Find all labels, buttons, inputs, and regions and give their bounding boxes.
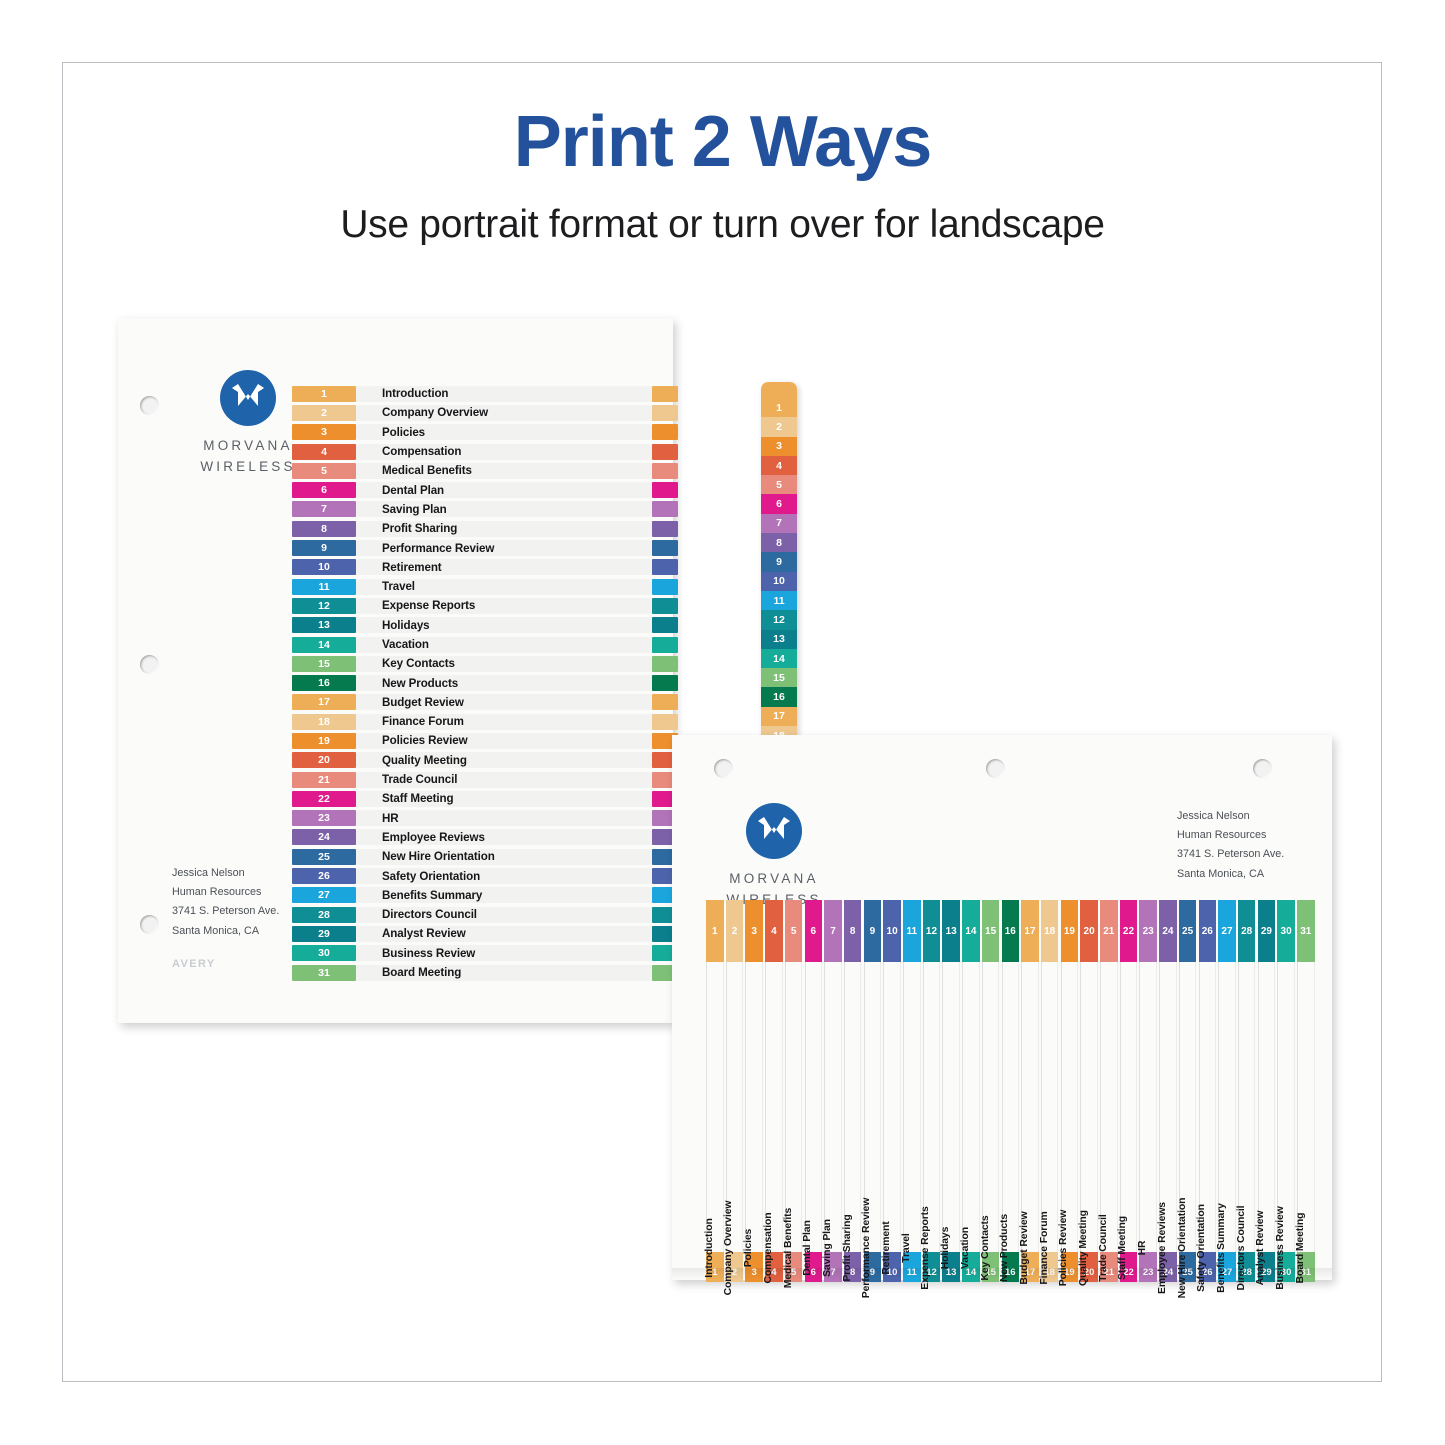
landscape-tab-column: 11Travel11 (903, 900, 921, 1282)
row-gap (356, 945, 370, 961)
tab-number-chip: 25 (292, 849, 356, 865)
landscape-tab-column: 9Performance Review9 (864, 900, 882, 1282)
landscape-tab-column: 17Budget Review17 (1021, 900, 1039, 1282)
tab-label: Vacation (370, 637, 652, 653)
tab-number-chip: 6 (292, 482, 356, 498)
tab-body: Directors Council (1238, 962, 1256, 1252)
row-gap (356, 849, 370, 865)
tab-number-chip: 27 (292, 887, 356, 903)
tab-number-header: 19 (1061, 900, 1079, 962)
landscape-tab-column: 24Employee Reviews24 (1159, 900, 1177, 1282)
table-row: 20Quality Meeting (292, 751, 678, 770)
tab-number-header: 27 (1218, 900, 1236, 962)
tab-label: New Hire Orientation (370, 849, 652, 865)
row-gap (356, 482, 370, 498)
tab-body: Saving Plan (824, 962, 842, 1252)
tab-number-header: 4 (765, 900, 783, 962)
morvana-diamond-logo-icon (746, 803, 802, 859)
tab-body: Safety Orientation (1199, 962, 1217, 1252)
landscape-tab-column: 2Company Overview2 (726, 900, 744, 1282)
table-row: 5Medical Benefits (292, 461, 678, 480)
binder-hole (140, 396, 159, 415)
tab-label: Key Contacts (370, 656, 652, 672)
binder-hole (1253, 759, 1272, 778)
tab-edge-number: 2 (761, 417, 797, 436)
table-row: 1Introduction (292, 384, 678, 403)
tab-edge-number: 14 (761, 649, 797, 668)
landscape-tab-column: 4Compensation4 (765, 900, 783, 1282)
tab-number-header: 6 (805, 900, 823, 962)
table-row: 9Performance Review (292, 538, 678, 557)
tab-edge-number: 1 (761, 382, 797, 417)
tab-body: Board Meeting (1297, 962, 1315, 1252)
sheet-shadow-shelf (672, 1268, 1332, 1280)
tab-number-chip: 16 (292, 675, 356, 691)
tab-number-header: 30 (1277, 900, 1295, 962)
table-row: 14Vacation (292, 635, 678, 654)
tab-end-chip (652, 598, 678, 614)
tab-number-header: 2 (726, 900, 744, 962)
tab-label: Quality Meeting (370, 752, 652, 768)
tab-body: Holidays (942, 962, 960, 1252)
tab-body: New Hire Orientation (1179, 962, 1197, 1252)
brand-name-line1: MORVANA (704, 869, 844, 890)
tab-number-chip: 5 (292, 463, 356, 479)
tab-body: Dental Plan (805, 962, 823, 1252)
tab-body: Business Review (1277, 962, 1295, 1252)
table-row: 28Directors Council (292, 905, 678, 924)
tab-number-chip: 31 (292, 965, 356, 981)
row-gap (356, 868, 370, 884)
tab-label: Travel (370, 579, 652, 595)
tab-number-chip: 1 (292, 386, 356, 402)
tab-body: Policies Review (1061, 962, 1079, 1252)
landscape-tab-column: 14Vacation14 (962, 900, 980, 1282)
row-gap (356, 887, 370, 903)
binder-hole (140, 655, 159, 674)
row-gap (356, 926, 370, 942)
tab-label: Profit Sharing (370, 521, 652, 537)
tab-number-chip: 15 (292, 656, 356, 672)
row-gap (356, 598, 370, 614)
tab-number-header: 8 (844, 900, 862, 962)
tab-label: Travel (901, 1233, 912, 1262)
landscape-tab-column: 16New Products16 (1002, 900, 1020, 1282)
tab-number-header: 17 (1021, 900, 1039, 962)
tab-edge-number: 17 (761, 707, 797, 726)
tab-body: Vacation (962, 962, 980, 1252)
tab-number-header: 13 (942, 900, 960, 962)
tab-edge-number: 3 (761, 437, 797, 456)
tab-number-chip: 11 (292, 579, 356, 595)
tab-number-header: 22 (1120, 900, 1138, 962)
table-row: 18Finance Forum (292, 712, 678, 731)
tab-edge-number: 10 (761, 572, 797, 591)
tab-label: Retirement (370, 559, 652, 575)
tab-number-header: 14 (962, 900, 980, 962)
tab-body: Retirement (883, 962, 901, 1252)
landscape-tab-column: 28Directors Council28 (1238, 900, 1256, 1282)
tab-edge-number: 15 (761, 668, 797, 687)
table-row: 4Compensation (292, 442, 678, 461)
binder-hole (140, 915, 159, 934)
tab-number-header: 3 (745, 900, 763, 962)
tab-number-chip: 13 (292, 617, 356, 633)
row-gap (356, 714, 370, 730)
address-city: Santa Monica, CA (1177, 865, 1284, 884)
tab-body: Key Contacts (982, 962, 1000, 1252)
tab-number-chip: 8 (292, 521, 356, 537)
row-gap (356, 810, 370, 826)
address-name: Jessica Nelson (172, 864, 279, 883)
row-gap (356, 656, 370, 672)
tab-end-chip (652, 501, 678, 517)
tab-edge-number: 4 (761, 456, 797, 475)
row-gap (356, 463, 370, 479)
tab-number-header: 7 (824, 900, 842, 962)
table-row: 19Policies Review (292, 731, 678, 750)
headline-block: Print 2 Ways Use portrait format or turn… (0, 105, 1445, 247)
tab-label: Budget Review (370, 694, 652, 710)
tab-end-chip (652, 405, 678, 421)
tab-label: Policies Review (370, 733, 652, 749)
tab-number-header: 1 (706, 900, 724, 962)
tab-label: HR (1137, 1241, 1148, 1256)
row-gap (356, 424, 370, 440)
tab-label: Staff Meeting (370, 791, 652, 807)
table-row: 8Profit Sharing (292, 519, 678, 538)
tab-number-header: 24 (1159, 900, 1177, 962)
row-gap (356, 501, 370, 517)
tab-number-chip: 24 (292, 829, 356, 845)
landscape-tab-column: 8Profit Sharing8 (844, 900, 862, 1282)
tab-body: Company Overview (726, 962, 744, 1252)
row-gap (356, 733, 370, 749)
landscape-tab-column: 21Trade Council21 (1100, 900, 1118, 1282)
tab-end-chip (652, 675, 678, 691)
return-address-block: Jessica Nelson Human Resources 3741 S. P… (1177, 807, 1284, 884)
landscape-tab-list: 1Introduction12Company Overview23Policie… (706, 900, 1316, 1290)
landscape-tab-column: 23HR23 (1139, 900, 1157, 1282)
tab-edge-number: 6 (761, 494, 797, 513)
tab-label: Performance Review (861, 1198, 872, 1298)
tab-edge-number: 11 (761, 591, 797, 610)
tab-body: Staff Meeting (1120, 962, 1138, 1252)
landscape-tab-column: 12Expense Reports12 (923, 900, 941, 1282)
tab-label: Analyst Review (370, 926, 652, 942)
table-row: 17Budget Review (292, 693, 678, 712)
landscape-tab-column: 15Key Contacts15 (982, 900, 1000, 1282)
tab-number-chip: 9 (292, 540, 356, 556)
tab-body: Introduction (706, 962, 724, 1252)
table-row: 26Safety Orientation (292, 866, 678, 885)
tab-label: Vacation (960, 1227, 971, 1269)
tab-edge-number: 7 (761, 514, 797, 533)
table-row: 2Company Overview (292, 403, 678, 422)
landscape-tab-column: 19Policies Review19 (1061, 900, 1079, 1282)
tab-end-chip (652, 694, 678, 710)
landscape-tab-column: 6Dental Plan6 (805, 900, 823, 1282)
row-gap (356, 637, 370, 653)
tab-number-header: 9 (864, 900, 882, 962)
tab-number-chip: 23 (292, 810, 356, 826)
address-city: Santa Monica, CA (172, 922, 279, 941)
tab-number-chip: 26 (292, 868, 356, 884)
address-street: 3741 S. Peterson Ave. (172, 902, 279, 921)
tab-number-header: 28 (1238, 900, 1256, 962)
table-row: 27Benefits Summary (292, 886, 678, 905)
tab-number-chip: 2 (292, 405, 356, 421)
landscape-tab-column: 18Finance Forum18 (1041, 900, 1059, 1282)
tab-label: Medical Benefits (370, 463, 652, 479)
tab-end-chip (652, 540, 678, 556)
tab-body: Budget Review (1021, 962, 1039, 1252)
tab-number-header: 26 (1199, 900, 1217, 962)
brand-logo-block: MORVANA WIRELESS (704, 803, 844, 911)
tab-number-header: 11 (903, 900, 921, 962)
landscape-tab-column: 20Quality Meeting20 (1080, 900, 1098, 1282)
return-address-block: Jessica Nelson Human Resources 3741 S. P… (172, 864, 279, 941)
page-title: Print 2 Ways (0, 105, 1445, 181)
tab-label: Retirement (881, 1221, 892, 1274)
tab-body: Trade Council (1100, 962, 1118, 1252)
tab-body: Policies (745, 962, 763, 1252)
product-image-canvas: Print 2 Ways Use portrait format or turn… (0, 0, 1445, 1445)
tab-label: Holidays (940, 1227, 951, 1270)
address-street: 3741 S. Peterson Ave. (1177, 845, 1284, 864)
row-gap (356, 752, 370, 768)
tab-label: Board Meeting (370, 965, 652, 981)
tab-label: Safety Orientation (370, 868, 652, 884)
row-gap (356, 386, 370, 402)
tab-label: HR (370, 810, 652, 826)
tab-body: HR (1139, 962, 1157, 1252)
tab-end-chip (652, 579, 678, 595)
table-row: 7Saving Plan (292, 500, 678, 519)
landscape-tab-column: 1Introduction1 (706, 900, 724, 1282)
table-row: 25New Hire Orientation (292, 847, 678, 866)
tab-number-header: 10 (883, 900, 901, 962)
tab-body: Compensation (765, 962, 783, 1252)
tab-number-header: 5 (785, 900, 803, 962)
tab-number-header: 16 (1002, 900, 1020, 962)
tab-number-header: 23 (1139, 900, 1157, 962)
tab-label: Trade Council (370, 772, 652, 788)
avery-watermark: AVERY (172, 958, 216, 970)
tab-body: New Products (1002, 962, 1020, 1252)
table-row: 21Trade Council (292, 770, 678, 789)
address-department: Human Resources (1177, 826, 1284, 845)
tab-number-header: 29 (1258, 900, 1276, 962)
tab-number-chip: 29 (292, 926, 356, 942)
row-gap (356, 829, 370, 845)
row-gap (356, 907, 370, 923)
tab-label: Policies (743, 1229, 754, 1267)
table-row: 3Policies (292, 423, 678, 442)
binder-hole (986, 759, 1005, 778)
tab-number-chip: 4 (292, 444, 356, 460)
tab-label: Dental Plan (370, 482, 652, 498)
tab-end-chip (652, 424, 678, 440)
tab-body: Travel (903, 962, 921, 1252)
tab-number-chip: 7 (292, 501, 356, 517)
tab-label: New Hire Orientation (1177, 1198, 1188, 1299)
tab-body: Analyst Review (1258, 962, 1276, 1252)
tab-body: Medical Benefits (785, 962, 803, 1252)
tab-end-chip (652, 386, 678, 402)
tab-number-chip: 14 (292, 637, 356, 653)
landscape-tab-column: 5Medical Benefits5 (785, 900, 803, 1282)
table-row: 24Employee Reviews (292, 828, 678, 847)
tab-number-header: 25 (1179, 900, 1197, 962)
row-gap (356, 521, 370, 537)
row-gap (356, 772, 370, 788)
tab-label: New Products (370, 675, 652, 691)
tab-label: Employee Reviews (370, 829, 652, 845)
row-gap (356, 579, 370, 595)
tab-end-chip (652, 656, 678, 672)
tab-label: Business Review (370, 945, 652, 961)
tab-edge-number: 16 (761, 687, 797, 706)
tab-body: Performance Review (864, 962, 882, 1252)
table-row: 31Board Meeting (292, 963, 678, 982)
landscape-tab-column: 3Policies3 (745, 900, 763, 1282)
landscape-tab-column: 25New Hire Orientation25 (1179, 900, 1197, 1282)
morvana-diamond-logo-icon (220, 370, 276, 426)
row-gap (356, 965, 370, 981)
landscape-tab-column: 29Analyst Review29 (1258, 900, 1276, 1282)
tab-label: Employee Reviews (1157, 1202, 1168, 1294)
tab-label: Finance Forum (370, 714, 652, 730)
tab-end-chip (652, 482, 678, 498)
row-gap (356, 559, 370, 575)
table-row: 11Travel (292, 577, 678, 596)
tab-end-chip (652, 637, 678, 653)
tab-number-chip: 21 (292, 772, 356, 788)
tab-number-chip: 3 (292, 424, 356, 440)
address-department: Human Resources (172, 883, 279, 902)
tab-label: Expense Reports (370, 598, 652, 614)
table-row: 10Retirement (292, 558, 678, 577)
tab-end-chip (652, 463, 678, 479)
row-gap (356, 405, 370, 421)
landscape-divider-sheet: MORVANA WIRELESS Jessica Nelson Human Re… (672, 735, 1332, 1280)
row-gap (356, 540, 370, 556)
row-gap (356, 694, 370, 710)
tab-label: Policies (370, 424, 652, 440)
landscape-tab-column: 7Saving Plan7 (824, 900, 842, 1282)
table-row: 12Expense Reports (292, 596, 678, 615)
tab-number-chip: 30 (292, 945, 356, 961)
landscape-tab-column: 13Holidays13 (942, 900, 960, 1282)
table-row: 23HR (292, 809, 678, 828)
row-gap (356, 791, 370, 807)
tab-number-header: 31 (1297, 900, 1315, 962)
tab-label: Company Overview (370, 405, 652, 421)
tab-number-chip: 20 (292, 752, 356, 768)
table-row: 16New Products (292, 673, 678, 692)
tab-edge-number: 8 (761, 533, 797, 552)
tab-edge-number: 9 (761, 552, 797, 571)
row-gap (356, 675, 370, 691)
tab-end-chip (652, 559, 678, 575)
tab-body: Finance Forum (1041, 962, 1059, 1252)
tab-body: Expense Reports (923, 962, 941, 1252)
tab-end-chip (652, 521, 678, 537)
tab-number-chip: 12 (292, 598, 356, 614)
landscape-tab-column: 27Benefits Summary27 (1218, 900, 1236, 1282)
tab-label: Holidays (370, 617, 652, 633)
tab-label: Directors Council (370, 907, 652, 923)
row-gap (356, 617, 370, 633)
tab-label: Company Overview (723, 1201, 734, 1296)
tab-number-chip: 22 (292, 791, 356, 807)
tab-number-chip: 17 (292, 694, 356, 710)
tab-number-header: 15 (982, 900, 1000, 962)
tab-edge-number: 13 (761, 630, 797, 649)
address-name: Jessica Nelson (1177, 807, 1284, 826)
tab-number-chip: 18 (292, 714, 356, 730)
landscape-tab-column: 30Business Review30 (1277, 900, 1295, 1282)
table-row: 13Holidays (292, 616, 678, 635)
tab-number-header: 18 (1041, 900, 1059, 962)
tab-label: Performance Review (370, 540, 652, 556)
tab-edge-number: 12 (761, 610, 797, 629)
tab-end-chip (652, 714, 678, 730)
tab-edge-number: 5 (761, 475, 797, 494)
tab-number-chip: 19 (292, 733, 356, 749)
landscape-tab-column: 31Board Meeting31 (1297, 900, 1315, 1282)
tab-number-chip: 10 (292, 559, 356, 575)
table-row: 15Key Contacts (292, 654, 678, 673)
table-row: 22Staff Meeting (292, 789, 678, 808)
tab-number-header: 21 (1100, 900, 1118, 962)
tab-label: Introduction (370, 386, 652, 402)
table-row: 6Dental Plan (292, 480, 678, 499)
tab-end-chip (652, 444, 678, 460)
tab-label: Saving Plan (370, 501, 652, 517)
tab-label: Benefits Summary (370, 887, 652, 903)
portrait-divider-sheet: MORVANA WIRELESS Jessica Nelson Human Re… (118, 318, 673, 1023)
tab-body: Benefits Summary (1218, 962, 1236, 1252)
landscape-tab-column: 10Retirement10 (883, 900, 901, 1282)
tab-body: Quality Meeting (1080, 962, 1098, 1252)
portrait-tab-list: 1Introduction2Company Overview3Policies4… (292, 384, 678, 982)
binder-hole (714, 759, 733, 778)
table-row: 29Analyst Review (292, 924, 678, 943)
tab-number-header: 20 (1080, 900, 1098, 962)
tab-number-header: 12 (923, 900, 941, 962)
landscape-tab-column: 26Safety Orientation26 (1199, 900, 1217, 1282)
landscape-tab-column: 22Staff Meeting22 (1120, 900, 1138, 1282)
tab-number-chip: 28 (292, 907, 356, 923)
tab-end-chip (652, 617, 678, 633)
page-subtitle: Use portrait format or turn over for lan… (0, 203, 1445, 247)
table-row: 30Business Review (292, 944, 678, 963)
tab-body: Employee Reviews (1159, 962, 1177, 1252)
tab-label: Compensation (370, 444, 652, 460)
row-gap (356, 444, 370, 460)
tab-body: Profit Sharing (844, 962, 862, 1252)
